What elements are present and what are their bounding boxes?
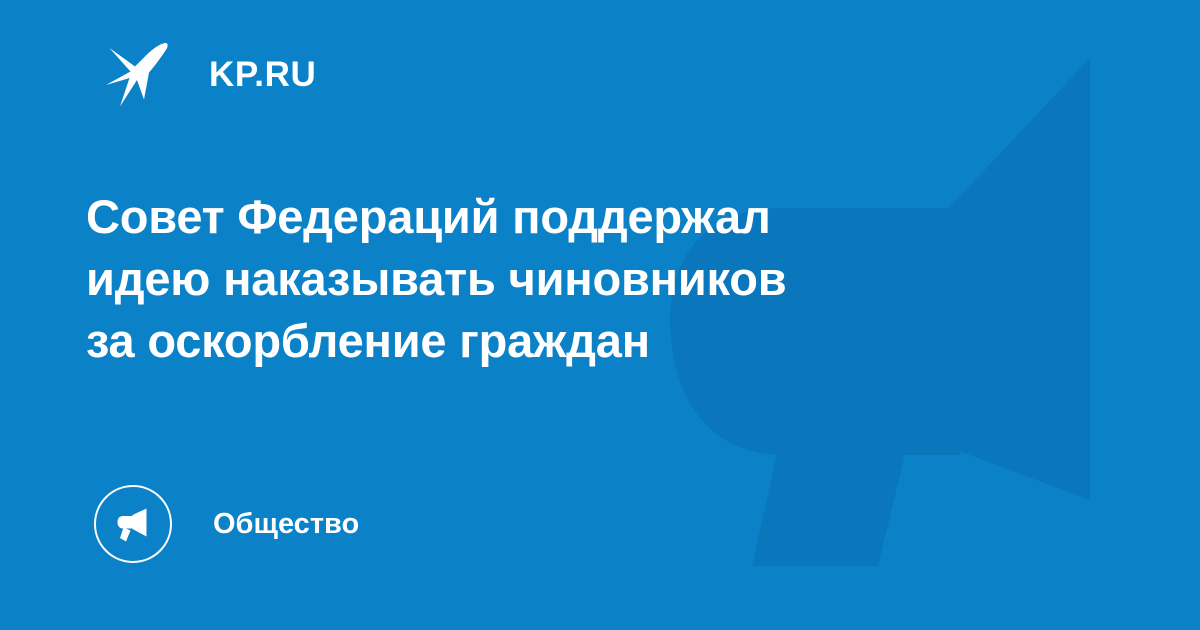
headline-line-3: за оскорбление граждан: [86, 310, 976, 372]
category-label: Общество: [213, 510, 359, 539]
category-badge[interactable]: Общество: [94, 484, 359, 564]
brand-logo-row[interactable]: KP.RU: [104, 36, 316, 112]
swallow-bird-icon: [104, 37, 178, 111]
headline: Совет Федераций поддержал идею наказыват…: [86, 186, 976, 372]
brand-wordmark: KP.RU: [209, 57, 316, 92]
megaphone-icon: [112, 503, 154, 545]
social-share-card: KP.RU Совет Федераций поддержал идею нак…: [0, 0, 1200, 630]
headline-line-1: Совет Федераций поддержал: [86, 186, 976, 248]
headline-line-2: идею наказывать чиновников: [86, 248, 976, 310]
category-icon-circle: [94, 485, 172, 563]
